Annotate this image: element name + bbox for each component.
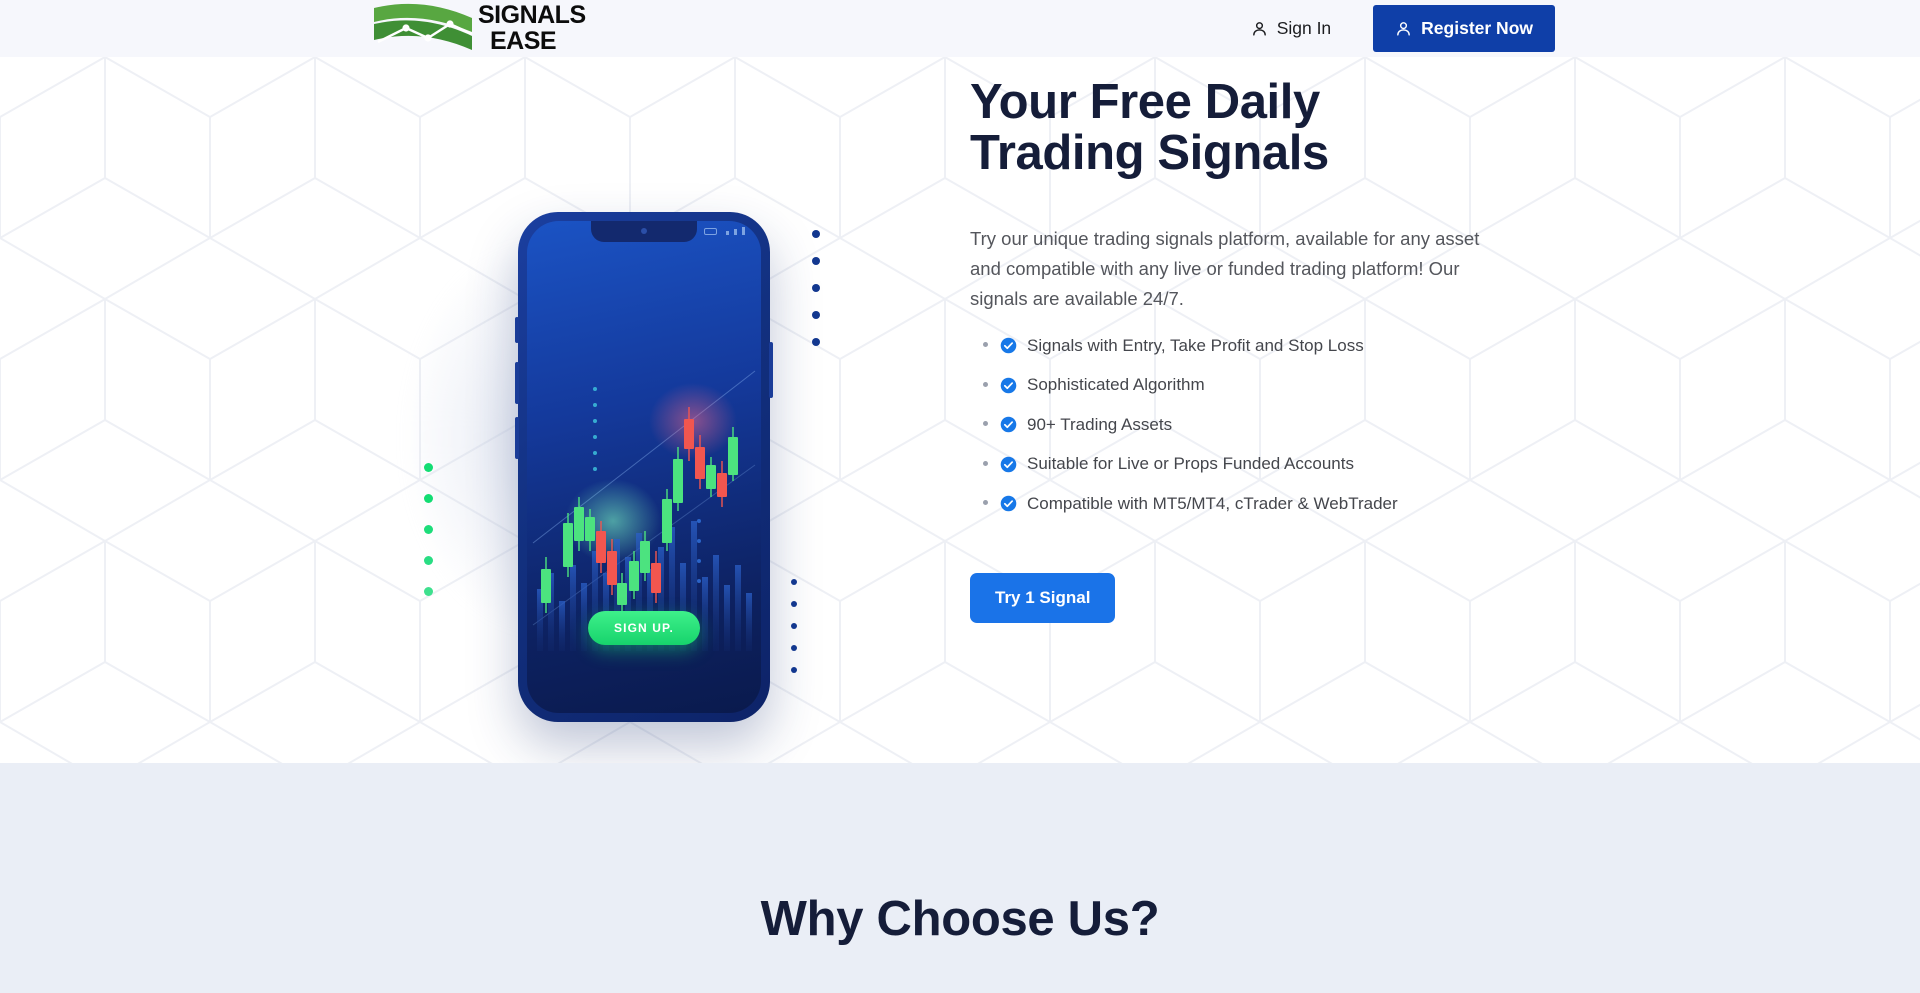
dot (424, 463, 433, 472)
feature-list: Signals with Entry, Take Profit and Stop… (1000, 335, 1560, 514)
dot (791, 623, 797, 629)
list-item: 90+ Trading Assets (1000, 414, 1560, 435)
dot (812, 338, 820, 346)
phone-signup-button[interactable]: SIGN UP. (588, 611, 700, 645)
feature-label: 90+ Trading Assets (1027, 415, 1172, 435)
status-bar-icons (704, 227, 745, 235)
header-actions: Sign In Register Now (1237, 0, 1555, 57)
check-circle-icon (1000, 456, 1017, 473)
page-title: Your Free Daily Trading Signals (970, 77, 1570, 180)
camera-icon (641, 228, 647, 234)
dot (812, 230, 820, 238)
dot (812, 284, 820, 292)
headline-line-2: Trading Signals (970, 126, 1329, 180)
feature-label: Sophisticated Algorithm (1027, 375, 1205, 395)
signal-bar-icon (734, 229, 737, 235)
dot (791, 645, 797, 651)
sign-in-label: Sign In (1277, 18, 1331, 39)
dot (791, 601, 797, 607)
why-choose-us-title: Why Choose Us? (0, 891, 1920, 947)
svg-text:SIGNALS: SIGNALS (478, 1, 586, 29)
phone-mockup: SIGN UP. (460, 177, 800, 717)
check-circle-icon (1000, 495, 1017, 512)
site-header: SIGNALS EASE Sign In Register Now (0, 0, 1920, 57)
dot-column-navy-bottom (791, 579, 797, 673)
dot (424, 587, 433, 596)
phone-side-button (515, 317, 519, 343)
feature-label: Signals with Entry, Take Profit and Stop… (1027, 336, 1364, 356)
sign-in-button[interactable]: Sign In (1237, 10, 1345, 47)
phone-power-button (769, 342, 773, 398)
phone-volume-up-button (515, 362, 519, 404)
dot (424, 494, 433, 503)
hero-section: SIGN UP. Your F (0, 57, 1920, 763)
check-circle-icon (1000, 377, 1017, 394)
register-now-label: Register Now (1421, 18, 1533, 39)
check-circle-icon (1000, 337, 1017, 354)
dot (791, 667, 797, 673)
hero-paragraph: Try our unique trading signals platform,… (970, 224, 1504, 314)
svg-text:EASE: EASE (490, 27, 556, 55)
why-choose-us-section: Why Choose Us? (0, 763, 1920, 993)
phone-body: SIGN UP. (518, 212, 770, 722)
dot-column-green (424, 463, 433, 596)
feature-label: Suitable for Live or Props Funded Accoun… (1027, 454, 1354, 474)
phone-volume-down-button (515, 417, 519, 459)
user-icon (1251, 20, 1268, 37)
dot (812, 311, 820, 319)
headline-line-1: Your Free Daily (970, 75, 1320, 129)
list-item: Compatible with MT5/MT4, cTrader & WebTr… (1000, 493, 1560, 514)
phone-notch (591, 221, 697, 242)
signal-bar-icon (742, 227, 745, 235)
user-icon (1395, 20, 1412, 37)
phone-screen: SIGN UP. (527, 221, 761, 713)
logo-icon: SIGNALS EASE (368, 0, 586, 56)
battery-icon (704, 228, 717, 235)
register-now-button[interactable]: Register Now (1373, 5, 1555, 52)
list-item: Signals with Entry, Take Profit and Stop… (1000, 335, 1560, 356)
dot (791, 579, 797, 585)
site-logo[interactable]: SIGNALS EASE (368, 0, 586, 56)
hero-illustration: SIGN UP. (0, 57, 960, 763)
list-item: Suitable for Live or Props Funded Accoun… (1000, 454, 1560, 475)
list-item: Sophisticated Algorithm (1000, 375, 1560, 396)
dot-column-navy-top (812, 230, 820, 346)
dot (812, 257, 820, 265)
signal-bar-icon (726, 231, 729, 235)
try-signal-button[interactable]: Try 1 Signal (970, 573, 1115, 623)
check-circle-icon (1000, 416, 1017, 433)
hero-content: Your Free Daily Trading Signals Try our … (970, 57, 1590, 763)
feature-label: Compatible with MT5/MT4, cTrader & WebTr… (1027, 494, 1398, 514)
dot (424, 556, 433, 565)
dot (424, 525, 433, 534)
